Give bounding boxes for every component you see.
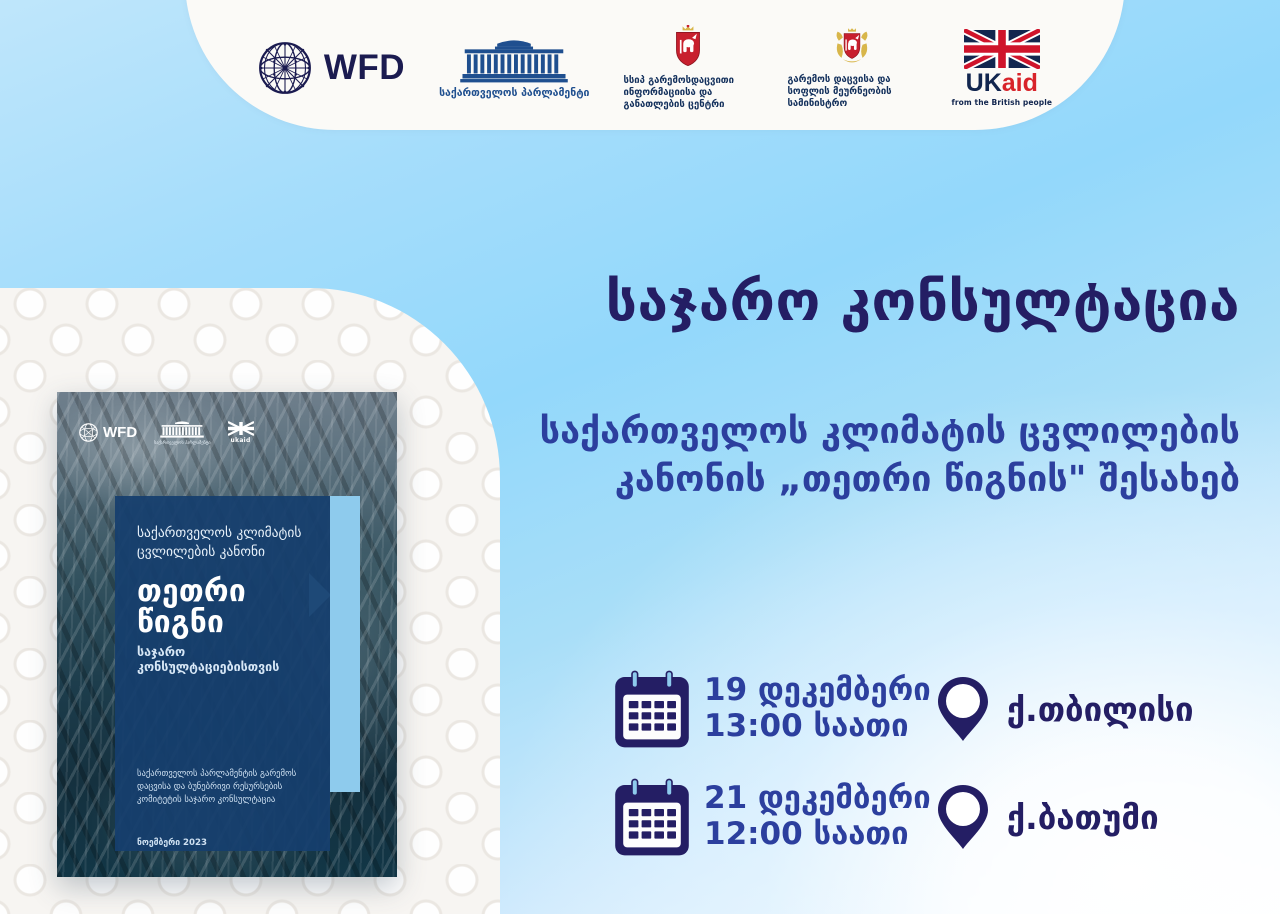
logo-ukaid: UKaid from the British people [951,29,1052,107]
book-cover-logos: WFD [79,420,381,445]
logo-ukaid-aid: aid [1002,69,1038,97]
parliament-building-icon [458,37,570,83]
logo-wfd: WFD [258,41,405,95]
logo-parliament: საქართველოს პარლამენტი [439,37,589,99]
union-jack-flag-icon [964,29,1040,69]
book-logo-wfd-text: WFD [103,424,137,441]
event-date: 21 დეკემბერი [704,780,931,816]
book-text-plate: საქართველოს კლიმატის ცვლილების კანონი თე… [115,496,330,851]
book-logo-parliament: საქართველოს პარლამენტი [154,420,210,445]
calendar-icon [612,669,692,749]
event-city: ქ.ბათუმი [1007,798,1159,837]
poster-canvas: WFD [0,0,1280,914]
book-logo-parliament-caption: საქართველოს პარლამენტი [154,440,210,445]
globe-network-icon [258,41,312,95]
book-logo-ukaid-text: ukaid [230,437,250,444]
header-logo-band: WFD [185,0,1125,130]
event-datetime: 21 დეკემბერი 12:00 საათი [704,781,931,853]
event-city: ქ.თბილისი [1007,690,1194,729]
logo-wfd-text: WFD [324,48,405,88]
calendar-icon [612,777,692,857]
logo-environmental-info-center: სსიპ გარემოსდაცვითი ინფორმაციისა და განა… [623,25,753,111]
location-pin-icon [937,784,989,850]
georgia-state-arms-icon [831,26,873,70]
logo-parliament-caption: საქართველოს პარლამენტი [439,87,589,99]
page-subtitle: საქართველოს კლიმატის ცვლილების კანონის „… [460,408,1240,503]
book-cover-image: WFD [57,392,397,877]
page-title: საჯარო კონსულტაცია [450,272,1240,330]
book-body-text: საქართველოს პარლამენტის გარემოს დაცვისა … [137,768,316,807]
event-time: 13:00 საათი [704,708,909,744]
logo-ukaid-uk: UK [966,69,1002,97]
parliament-building-icon [157,420,207,439]
location-pin-icon [937,676,989,742]
event-date: 19 დეკემბერი [704,672,931,708]
event-datetime: 19 დეკემბერი 13:00 საათი [704,673,931,745]
book-date: ნოემბერი 2023 [137,838,207,848]
book-logo-ukaid: ukaid [228,421,254,444]
event-row: 21 დეკემბერი 12:00 საათი ქ.ბათუმი [612,763,1250,871]
georgia-shield-arms-icon [671,25,705,71]
event-row: 19 დეკემბერი 13:00 საათი ქ.თბილისი [612,655,1250,763]
logo-ukaid-wordmark: UKaid [966,71,1038,96]
event-time: 12:00 საათი [704,816,909,852]
book-title: თეთრი წიგნი [137,577,314,638]
logo-ministry-caption: გარემოს დაცვისა და სოფლის მეურნეობის სამ… [787,74,917,110]
partner-logos-row: WFD [185,12,1125,124]
logo-env-center-caption: სსიპ გარემოსდაცვითი ინფორმაციისა და განა… [623,75,753,111]
globe-network-icon [79,423,98,442]
logo-ukaid-tagline: from the British people [951,98,1052,107]
logo-ministry: გარემოს დაცვისა და სოფლის მეურნეობის სამ… [787,26,917,110]
book-accent-bar [330,496,360,792]
union-jack-flag-icon [228,421,254,436]
book-post-title: საჯარო კონსულტაციებისთვის [137,645,314,675]
book-logo-wfd: WFD [79,423,137,442]
book-pre-title: საქართველოს კლიმატის ცვლილების კანონი [137,524,314,561]
events-list: 19 დეკემბერი 13:00 საათი ქ.თბილისი [612,655,1250,871]
